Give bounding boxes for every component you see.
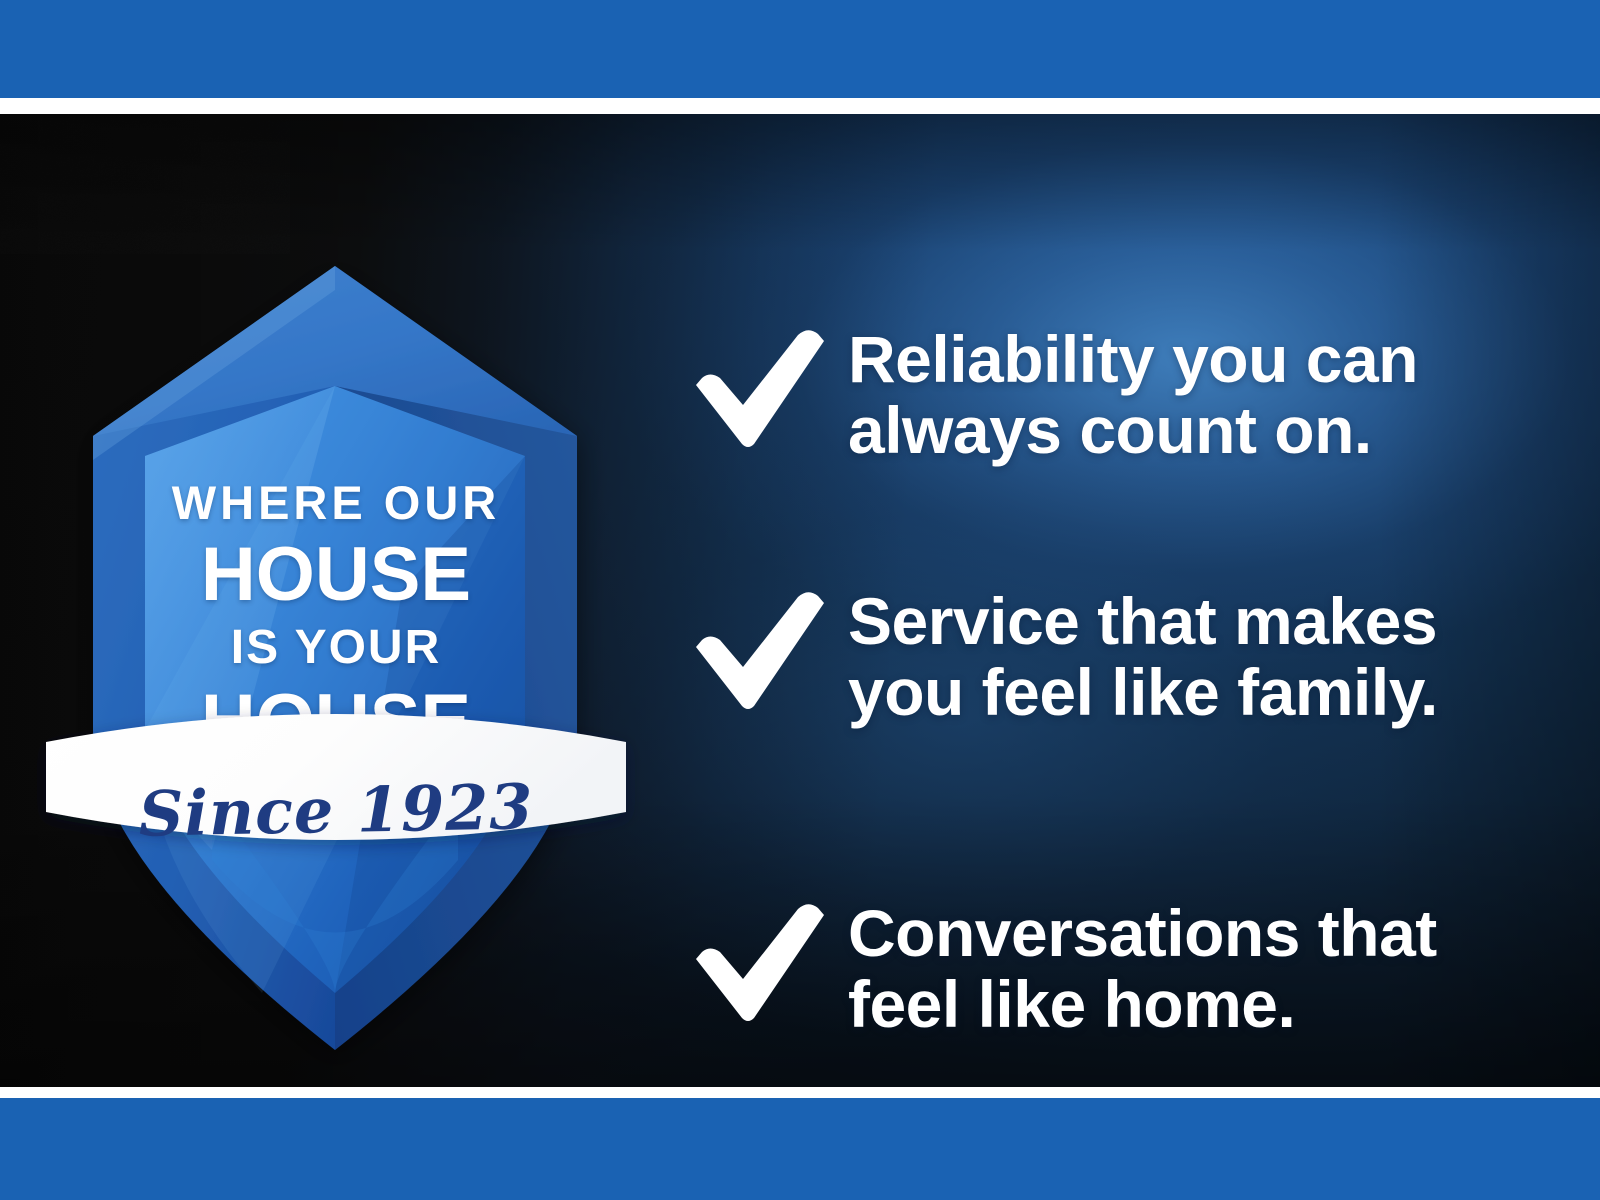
bottom-brand-band (0, 1098, 1600, 1200)
shield-tagline-line-1: WHERE OUR (62, 479, 610, 526)
top-brand-band (0, 0, 1600, 98)
check-icon (680, 328, 830, 450)
main-canvas: WHERE OUR HOUSE IS YOUR HOUSE Since 1923 (0, 114, 1600, 1087)
benefit-text: Service that makes you feel like family. (848, 586, 1528, 728)
bottom-white-divider (0, 1087, 1600, 1098)
shield-badge: WHERE OUR HOUSE IS YOUR HOUSE Since 1923 (62, 260, 610, 940)
shield-tagline-line-3: IS YOUR (62, 624, 610, 672)
benefit-text: Conversations that feel like home. (848, 898, 1528, 1040)
ribbon-text: Since 1923 (61, 769, 610, 853)
check-icon (680, 590, 830, 712)
shield-tagline-line-2: HOUSE (62, 537, 610, 613)
promo-graphic: WHERE OUR HOUSE IS YOUR HOUSE Since 1923 (0, 0, 1600, 1200)
benefit-text: Reliability you can always count on. (848, 324, 1528, 466)
background-noise-texture (0, 114, 290, 254)
benefits-list: Reliability you can always count on. Ser… (672, 228, 1532, 1087)
top-white-divider (0, 98, 1600, 114)
check-icon (680, 902, 830, 1024)
